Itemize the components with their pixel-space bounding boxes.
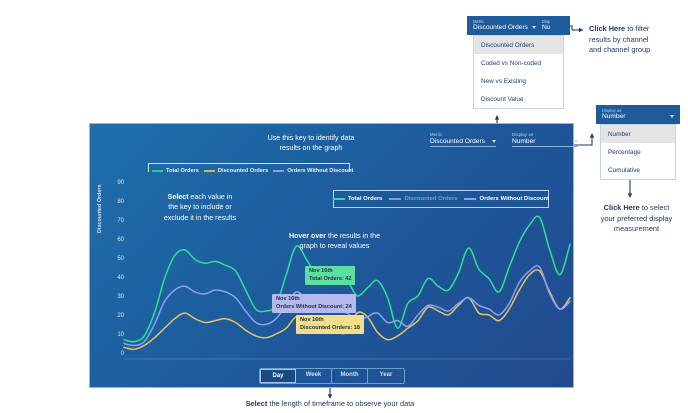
chart-legend: Total Orders Discounted Orders Orders Wi… <box>333 190 549 208</box>
timeframe-option-month[interactable]: Month <box>332 369 368 383</box>
annotation-filter-rest: to filter <box>625 24 649 33</box>
panel-controls: Metric Discounted Orders Display as Numb… <box>430 132 578 147</box>
display-dropdown-popover[interactable]: Display as Number Number Percentage Cumu… <box>596 105 680 180</box>
annotation-display: Click Here to select your preferred disp… <box>585 203 688 235</box>
y-tick: 20 <box>112 313 124 319</box>
metric-dropdown-list[interactable]: Discounted Orders Coded vs Non-coded New… <box>473 35 564 109</box>
key-item-label: Total Orders <box>166 168 199 174</box>
display-option-percentage[interactable]: Percentage <box>601 143 675 161</box>
display-as-select-label: Display as <box>512 132 578 137</box>
metric-option-discounted-orders[interactable]: Discounted Orders <box>474 36 563 54</box>
tooltip-metric: Discounted Orders: 18 <box>300 325 360 333</box>
legend-item-label: Orders Without Discount <box>479 196 549 202</box>
tooltip-discounted-orders: Nov 16th Discounted Orders: 18 <box>296 315 364 334</box>
metric-option-discount-value[interactable]: Discount Value <box>474 90 563 108</box>
y-tick: 90 <box>112 180 124 186</box>
metric-option-new-vs-existing[interactable]: New vs Existing <box>474 72 563 90</box>
timeframe-option-day[interactable]: Day <box>260 369 296 383</box>
line-swatch-icon <box>152 170 163 172</box>
timeframe-selector[interactable]: Day Week Month Year <box>259 368 405 384</box>
key-item-label: Orders Without Discount <box>287 168 353 174</box>
y-tick: 30 <box>112 294 124 300</box>
annotation-filter-bold: Click Here <box>589 24 625 33</box>
y-tick: 40 <box>112 275 124 281</box>
tooltip-date: Nov 16th <box>309 268 351 276</box>
metric-select[interactable]: Metric Discounted Orders <box>430 132 496 147</box>
metric-select-label: Metric <box>430 132 496 137</box>
display-dropdown-value-partial: Nu <box>542 24 550 31</box>
timeframe-option-year[interactable]: Year <box>368 369 404 383</box>
y-tick: 70 <box>112 218 124 224</box>
legend-item-discounted-orders[interactable]: Discounted Orders <box>389 196 457 202</box>
chevron-down-icon <box>670 115 674 118</box>
line-swatch-icon <box>464 198 476 200</box>
chevron-down-icon <box>532 26 536 29</box>
callout-select-l2: the key to include or <box>168 203 232 211</box>
y-tick: 60 <box>112 237 124 243</box>
y-tick: 0 <box>112 351 124 357</box>
display-option-number[interactable]: Number <box>601 125 675 143</box>
display-dropdown-value: Number <box>602 113 625 120</box>
chevron-down-icon <box>492 140 496 143</box>
callout-hover-l2: graph to reveal values <box>300 242 370 250</box>
chart-key: Total Orders Discounted Orders Orders Wi… <box>152 168 353 174</box>
key-item-label: Discounted Orders <box>218 168 268 174</box>
tooltip-orders-without-discount: Nov 16th Orders Without Discount: 24 <box>272 294 356 313</box>
annotation-timeframe: Select the length of timeframe to observ… <box>222 399 438 410</box>
metric-dropdown-value: Discounted Orders <box>473 24 528 31</box>
callout-select-key: Select each value in the key to include … <box>152 192 248 223</box>
tooltip-date: Nov 16th <box>276 296 352 304</box>
annotation-filter-l2: results by channel <box>589 35 649 44</box>
line-swatch-icon <box>204 170 215 172</box>
callout-select-l3: exclude it in the results <box>164 214 236 222</box>
annotation-display-rest: to select <box>640 203 670 212</box>
metric-option-coded-vs-non-coded[interactable]: Coded vs Non-coded <box>474 54 563 72</box>
line-swatch-icon <box>389 198 401 200</box>
annotation-filter-l3: and channel group <box>589 45 650 54</box>
tooltip-date: Nov 16th <box>300 317 360 325</box>
callout-hover-rest: the results in the <box>326 232 380 240</box>
metric-dropdown-popover[interactable]: Metric Discounted Orders Disp Nu Discoun… <box>467 16 570 109</box>
legend-item-orders-without-discount[interactable]: Orders Without Discount <box>464 196 549 202</box>
metric-select-value: Discounted Orders <box>430 138 485 145</box>
tooltip-metric: Total Orders: 42 <box>309 276 351 284</box>
annotation-display-l2: your preferred display <box>601 214 672 223</box>
annotation-display-bold: Click Here <box>604 203 640 212</box>
line-swatch-icon <box>333 198 345 200</box>
callout-select-rest: each value in <box>189 193 233 201</box>
callout-use-key: Use this key to identify dataresults on … <box>236 133 386 154</box>
y-tick: 10 <box>112 332 124 338</box>
legend-item-label: Total Orders <box>348 196 383 202</box>
callout-hover-bold: Hover over <box>289 232 326 240</box>
annotation-filter: Click Here to filter results by channel … <box>589 24 688 56</box>
tooltip-total-orders: Nov 16th Total Orders: 42 <box>305 266 355 285</box>
display-option-cumulative[interactable]: Cumulative <box>601 161 675 179</box>
timeframe-option-week[interactable]: Week <box>296 369 332 383</box>
display-dropdown-list[interactable]: Number Percentage Cumulative <box>600 124 676 180</box>
display-as-select[interactable]: Display as Number <box>512 132 578 147</box>
key-item-orders-without-discount[interactable]: Orders Without Discount <box>273 168 353 174</box>
legend-item-total-orders[interactable]: Total Orders <box>333 196 383 202</box>
line-swatch-icon <box>273 170 284 172</box>
key-item-discounted-orders[interactable]: Discounted Orders <box>204 168 268 174</box>
callout-select-bold: Select <box>168 193 189 201</box>
display-as-select-value: Number <box>512 138 535 145</box>
callout-hover: Hover over the results in the graph to r… <box>253 231 416 252</box>
tooltip-metric: Orders Without Discount: 24 <box>276 304 352 312</box>
metric-dropdown-header[interactable]: Metric Discounted Orders Disp Nu <box>467 16 570 35</box>
annotation-display-l3: measurement <box>614 224 659 233</box>
display-dropdown-header[interactable]: Display as Number <box>596 105 680 124</box>
screenshot-root: Metric Discounted Orders Display as Numb… <box>0 0 688 413</box>
legend-item-label: Discounted Orders <box>404 196 457 202</box>
annotation-timeframe-rest: the length of timeframe to observe your … <box>267 399 414 408</box>
annotation-timeframe-bold: Select <box>246 399 268 408</box>
y-tick: 80 <box>112 199 124 205</box>
y-tick: 50 <box>112 256 124 262</box>
key-item-total-orders[interactable]: Total Orders <box>152 168 199 174</box>
y-axis-title: Discounted Orders <box>97 184 103 233</box>
chevron-down-icon <box>574 140 578 143</box>
